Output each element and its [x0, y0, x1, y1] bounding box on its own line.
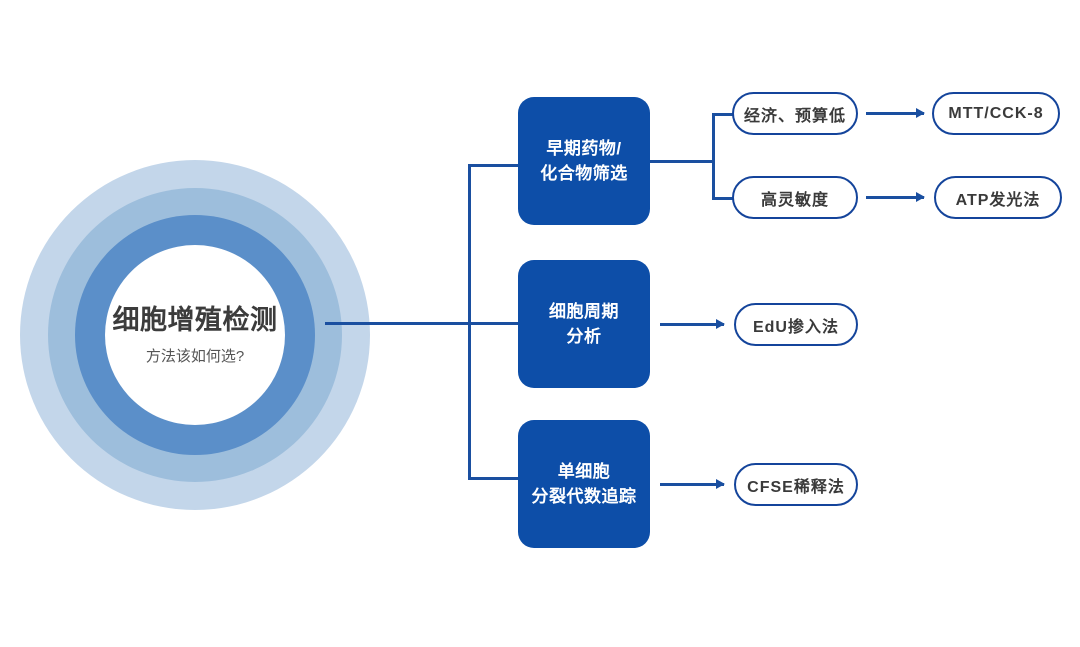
category-box-single-cell-division[interactable]: 单细胞 分裂代数追踪: [518, 420, 650, 548]
category-label-line1: 单细胞: [558, 462, 611, 481]
criteria-pill-low-budget[interactable]: 经济、预算低: [732, 92, 858, 135]
arrow-to-mtt-cck8: [866, 112, 924, 115]
bracket-sub-trunk: [712, 113, 715, 200]
category-box-label: 单细胞 分裂代数追踪: [532, 459, 637, 510]
category-label-line1: 细胞周期: [549, 302, 619, 321]
connector-hub-to-bracket: [325, 322, 470, 325]
category-box-label: 细胞周期 分析: [549, 299, 619, 350]
arrow-to-cfse: [660, 483, 724, 486]
bracket-arm-branch-1: [468, 322, 520, 325]
hub-core: 细胞增殖检测 方法该如何选?: [105, 245, 285, 425]
bracket-sub-arm-1: [712, 197, 734, 200]
category-label-line2: 分裂代数追踪: [532, 487, 637, 506]
category-label-line2: 分析: [567, 327, 602, 346]
method-pill-atp-luminescence[interactable]: ATP发光法: [934, 176, 1062, 219]
hub-title: 细胞增殖检测: [113, 304, 278, 336]
criteria-pill-high-sensitivity[interactable]: 高灵敏度: [732, 176, 858, 219]
bracket-sub-arm-0: [712, 113, 734, 116]
connector-branch0-to-subbracket: [650, 160, 714, 163]
category-box-cell-cycle[interactable]: 细胞周期 分析: [518, 260, 650, 388]
bracket-arm-branch-0: [468, 164, 520, 167]
bracket-arm-branch-2: [468, 477, 520, 480]
category-box-drug-screening[interactable]: 早期药物/ 化合物筛选: [518, 97, 650, 225]
category-box-label: 早期药物/ 化合物筛选: [540, 136, 628, 187]
diagram-canvas: 细胞增殖检测 方法该如何选? 早期药物/ 化合物筛选 经济、预算低 高灵敏度 M…: [0, 0, 1080, 647]
arrow-to-edu: [660, 323, 724, 326]
category-label-line2: 化合物筛选: [540, 164, 628, 183]
method-pill-mtt-cck8[interactable]: MTT/CCK-8: [932, 92, 1060, 135]
method-pill-cfse[interactable]: CFSE稀释法: [734, 463, 858, 506]
method-pill-edu[interactable]: EdU掺入法: [734, 303, 858, 346]
arrow-to-atp-luminescence: [866, 196, 924, 199]
category-label-line1: 早期药物/: [546, 139, 621, 158]
hub-subtitle: 方法该如何选?: [146, 345, 244, 366]
